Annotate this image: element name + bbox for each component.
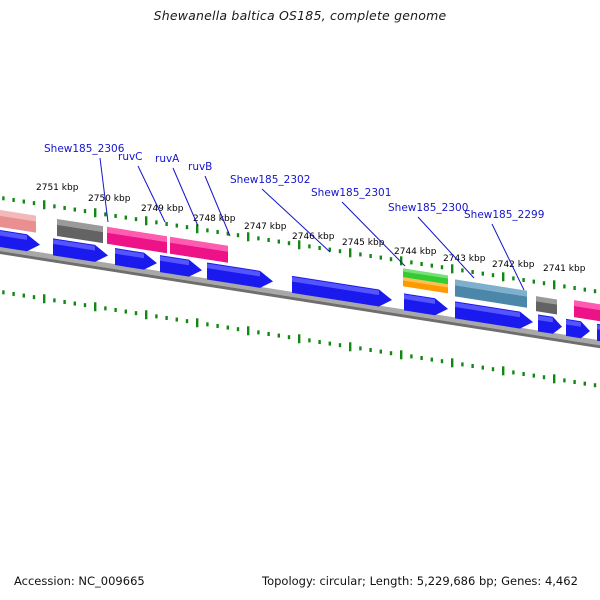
tick-minor: [441, 265, 443, 269]
tick-minor: [390, 257, 392, 261]
tick-minor: [278, 240, 280, 244]
tick-minor: [461, 268, 463, 272]
tick-minor: [12, 198, 14, 202]
tick-minor: [359, 252, 361, 256]
kbp-tick-label: 2744 kbp: [394, 247, 437, 257]
tick-major: [553, 374, 555, 383]
tick-major: [196, 318, 198, 327]
tick-minor: [125, 310, 127, 314]
kbp-tick-label: 2748 kbp: [193, 214, 236, 224]
tick-minor: [84, 209, 86, 213]
tick-minor: [63, 300, 65, 304]
tick-minor: [594, 383, 596, 387]
topology-text: Topology: circular; Length: 5,229,686 bp…: [262, 574, 578, 588]
tick-minor: [359, 346, 361, 350]
gene-label[interactable]: Shew185_2300: [388, 202, 468, 214]
tick-minor: [369, 254, 371, 258]
tick-minor: [206, 322, 208, 326]
tick-minor: [573, 286, 575, 290]
gene-label-leader: [492, 224, 524, 290]
tick-minor: [216, 324, 218, 328]
tick-minor: [2, 290, 4, 294]
gene-label[interactable]: Shew185_2299: [464, 209, 544, 221]
tick-minor: [543, 375, 545, 379]
tick-major: [247, 232, 249, 241]
tick-minor: [176, 318, 178, 322]
tick-minor: [390, 351, 392, 355]
tick-major: [94, 208, 96, 217]
tick-major: [553, 280, 555, 289]
kbp-tick-label: 2751 kbp: [36, 183, 79, 193]
tick-minor: [533, 374, 535, 378]
tick-minor: [584, 382, 586, 386]
kbp-tick-label: 2749 kbp: [141, 204, 184, 214]
tick-major: [400, 350, 402, 359]
tick-major: [94, 302, 96, 311]
tick-minor: [431, 358, 433, 362]
tick-minor: [176, 224, 178, 228]
tick-minor: [125, 216, 127, 220]
tick-minor: [257, 236, 259, 240]
tick-minor: [492, 367, 494, 371]
tick-minor: [308, 244, 310, 248]
tick-minor: [431, 264, 433, 268]
tick-minor: [104, 306, 106, 310]
tick-minor: [104, 212, 106, 216]
tick-minor: [114, 308, 116, 312]
accession-text: Accession: NC_009665: [14, 574, 145, 588]
tick-major: [247, 326, 249, 335]
gene-label[interactable]: ruvB: [188, 161, 212, 173]
tick-minor: [482, 272, 484, 276]
tick-minor: [380, 350, 382, 354]
kbp-tick-label: 2741 kbp: [543, 264, 586, 274]
tick-minor: [573, 380, 575, 384]
tick-major: [502, 366, 504, 375]
tick-minor: [63, 206, 65, 210]
tick-major: [349, 248, 351, 257]
tick-minor: [563, 378, 565, 382]
kbp-tick-label: 2743 kbp: [443, 254, 486, 264]
kbp-tick-label: 2747 kbp: [244, 222, 287, 232]
tick-minor: [512, 370, 514, 374]
tick-minor: [492, 273, 494, 277]
tick-minor: [482, 366, 484, 370]
tick-minor: [563, 284, 565, 288]
tick-minor: [206, 228, 208, 232]
tick-minor: [380, 256, 382, 260]
tick-minor: [461, 362, 463, 366]
tick-major: [145, 216, 147, 225]
tick-minor: [23, 200, 25, 204]
gene-label[interactable]: ruvC: [118, 151, 143, 163]
kbp-tick-label: 2750 kbp: [88, 194, 131, 204]
feature-gray-1[interactable]: [57, 219, 103, 243]
tick-major: [145, 310, 147, 319]
tick-minor: [227, 326, 229, 330]
tick-minor: [2, 196, 4, 200]
tick-minor: [594, 289, 596, 293]
tick-minor: [186, 319, 188, 323]
tick-minor: [114, 214, 116, 218]
tick-minor: [522, 372, 524, 376]
tick-minor: [339, 249, 341, 253]
tick-minor: [441, 359, 443, 363]
tick-minor: [543, 281, 545, 285]
gene-label-leader: [173, 168, 198, 226]
genome-viewer: Shewanella baltica OS185, complete genom…: [0, 0, 600, 600]
tick-minor: [155, 220, 157, 224]
gene-label[interactable]: Shew185_2306: [44, 143, 125, 155]
tick-minor: [23, 294, 25, 298]
tick-minor: [53, 298, 55, 302]
tick-minor: [12, 292, 14, 296]
tick-minor: [308, 338, 310, 342]
tick-minor: [74, 302, 76, 306]
gene-label[interactable]: Shew185_2302: [230, 174, 310, 186]
tick-minor: [318, 340, 320, 344]
gene-label-leader: [205, 176, 230, 236]
tick-minor: [369, 348, 371, 352]
tick-minor: [53, 204, 55, 208]
tick-minor: [288, 241, 290, 245]
tick-minor: [257, 330, 259, 334]
tick-minor: [155, 314, 157, 318]
tick-minor: [471, 364, 473, 368]
tick-minor: [278, 334, 280, 338]
tick-minor: [420, 262, 422, 266]
feature-salmon-1[interactable]: [0, 208, 36, 233]
gene-label[interactable]: ruvA: [155, 153, 180, 165]
tick-minor: [237, 233, 239, 237]
tick-minor: [420, 356, 422, 360]
tick-minor: [33, 295, 35, 299]
tick-minor: [410, 260, 412, 264]
tick-minor: [584, 288, 586, 292]
tick-major: [43, 294, 45, 303]
tick-minor: [237, 327, 239, 331]
tick-minor: [84, 303, 86, 307]
tick-minor: [410, 354, 412, 358]
tick-minor: [533, 280, 535, 284]
tick-minor: [512, 276, 514, 280]
gene-arrow-9[interactable]: [538, 314, 562, 333]
tick-minor: [135, 311, 137, 315]
feature-magenta-3[interactable]: [574, 300, 600, 323]
tick-major: [43, 200, 45, 209]
tick-minor: [186, 225, 188, 229]
gene-arrow-10[interactable]: [566, 319, 590, 338]
tick-minor: [267, 332, 269, 336]
tick-minor: [339, 343, 341, 347]
tick-minor: [135, 217, 137, 221]
tick-minor: [288, 335, 290, 339]
feature-gray-2[interactable]: [536, 296, 557, 314]
tick-minor: [522, 278, 524, 282]
tick-minor: [74, 208, 76, 212]
tick-major: [298, 334, 300, 343]
tick-minor: [267, 238, 269, 242]
gene-label-leader: [100, 158, 108, 222]
tick-major: [349, 342, 351, 351]
tick-minor: [318, 246, 320, 250]
tick-major: [502, 272, 504, 281]
tick-minor: [329, 342, 331, 346]
tick-minor: [471, 270, 473, 274]
tick-minor: [33, 201, 35, 205]
genome-map[interactable]: 2751 kbp2750 kbp2749 kbp2748 kbp2747 kbp…: [0, 0, 600, 600]
tick-major: [451, 358, 453, 367]
tick-minor: [165, 222, 167, 226]
tick-minor: [165, 316, 167, 320]
tick-minor: [216, 230, 218, 234]
tick-major: [451, 264, 453, 273]
gene-label[interactable]: Shew185_2301: [311, 187, 391, 199]
